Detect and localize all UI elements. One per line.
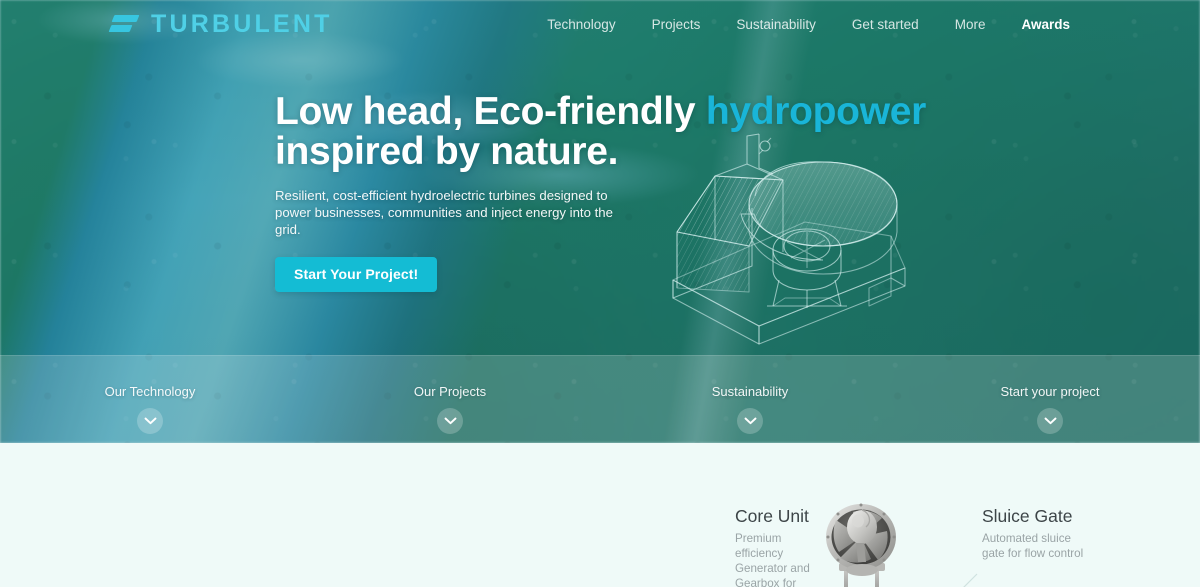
- top-navigation-bar: TURBULENT Technology Projects Sustainabi…: [0, 0, 1200, 48]
- quicklink-our-projects[interactable]: Our Projects: [300, 356, 600, 434]
- nav-item-more[interactable]: More: [955, 17, 986, 32]
- chevron-down-icon[interactable]: [1037, 408, 1063, 434]
- headline-accent-text: hydropower: [706, 90, 926, 133]
- main-nav: Technology Projects Sustainability Get s…: [547, 17, 1070, 32]
- nav-item-projects[interactable]: Projects: [652, 17, 701, 32]
- headline-line2-text: inspired by nature.: [275, 130, 618, 173]
- quicklink-label: Our Projects: [414, 384, 486, 399]
- propeller-turbine-render: [806, 500, 918, 587]
- nav-item-awards[interactable]: Awards: [1021, 17, 1070, 32]
- product-description: Automated sluice gate for flow control: [982, 531, 1092, 561]
- chevron-down-icon[interactable]: [737, 408, 763, 434]
- hero-content: Low head, Eco-friendly hydropower inspir…: [275, 92, 935, 292]
- quicklink-label: Start your project: [1001, 384, 1100, 399]
- brand-logo[interactable]: TURBULENT: [110, 10, 333, 39]
- headline-line1-text: Low head, Eco-friendly: [275, 90, 706, 133]
- quicklink-our-technology[interactable]: Our Technology: [0, 356, 300, 434]
- quicklink-label: Our Technology: [105, 384, 196, 399]
- connector-line: [955, 570, 995, 587]
- brand-name: TURBULENT: [151, 10, 333, 39]
- product-title: Sluice Gate: [982, 506, 1092, 527]
- product-card-sluice-gate[interactable]: Sluice Gate Automated sluice gate for fl…: [982, 506, 1092, 561]
- turbulent-wave-logo-icon: [110, 11, 140, 37]
- chevron-down-icon[interactable]: [137, 408, 163, 434]
- quicklink-label: Sustainability: [712, 384, 789, 399]
- chevron-down-icon[interactable]: [437, 408, 463, 434]
- nav-item-get-started[interactable]: Get started: [852, 17, 919, 32]
- quicklink-start-your-project[interactable]: Start your project: [900, 356, 1200, 434]
- nav-item-sustainability[interactable]: Sustainability: [736, 17, 816, 32]
- hero-subheadline: Resilient, cost-efficient hydroelectric …: [275, 187, 625, 238]
- quicklink-sustainability[interactable]: Sustainability: [600, 356, 900, 434]
- landing-page: TURBULENT Technology Projects Sustainabi…: [0, 0, 1200, 587]
- start-your-project-button[interactable]: Start Your Project!: [275, 257, 437, 292]
- nav-item-technology[interactable]: Technology: [547, 17, 615, 32]
- quick-links-bar: Our Technology Our Projects Sustainabili…: [0, 355, 1200, 443]
- page-title: Low head, Eco-friendly hydropower inspir…: [275, 92, 935, 172]
